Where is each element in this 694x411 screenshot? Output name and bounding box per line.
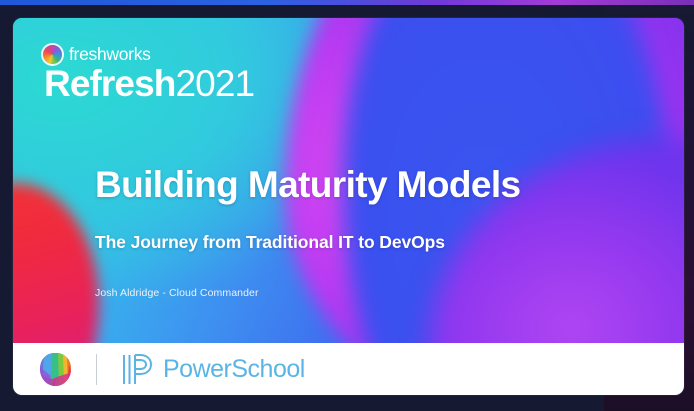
event-year-text: 2021	[175, 63, 254, 104]
presentation-slide: freshworks Refresh2021 Building Maturity…	[13, 18, 684, 395]
freshworks-petal-icon	[39, 352, 72, 387]
slide-subtitle: The Journey from Traditional IT to DevOp…	[95, 232, 445, 253]
screen-frame: freshworks Refresh2021 Building Maturity…	[0, 0, 694, 411]
powerschool-p-icon	[121, 352, 154, 387]
freshworks-wordmark: freshworks	[69, 46, 151, 64]
event-name-text: Refresh	[44, 63, 175, 104]
page-title: Building Maturity Models	[95, 164, 520, 205]
vertical-divider	[96, 354, 97, 385]
freshworks-circle-icon	[43, 45, 62, 64]
event-wordmark: Refresh2021	[44, 65, 254, 102]
powerschool-lockup: PowerSchool	[121, 352, 305, 387]
freshworks-row: freshworks	[43, 45, 254, 64]
slide-footer-bar: PowerSchool	[13, 343, 684, 395]
powerschool-wordmark: PowerSchool	[163, 357, 305, 382]
top-accent-strip	[0, 0, 694, 5]
presenter-byline: Josh Aldridge - Cloud Commander	[95, 287, 259, 299]
brand-lockup: freshworks Refresh2021	[43, 45, 254, 102]
